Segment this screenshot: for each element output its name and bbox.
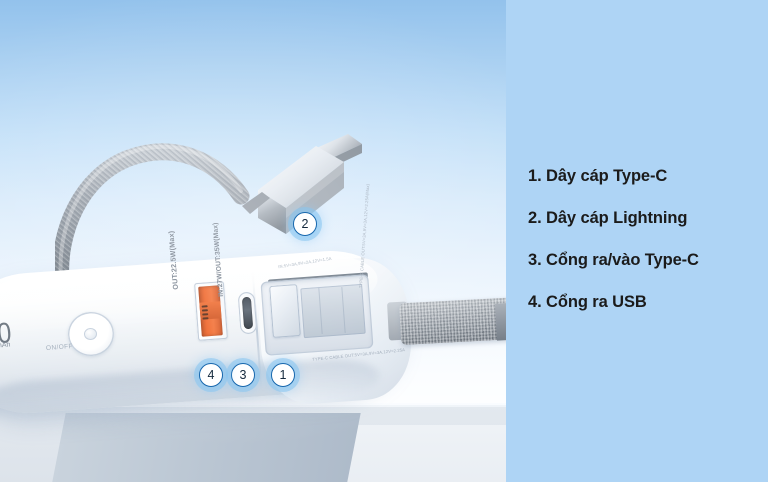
hand-strap-fold: [495, 302, 506, 340]
usb-a-contact: [202, 309, 208, 311]
usb-a-contact: [202, 313, 208, 315]
capacity-unit: mAh: [0, 341, 11, 349]
legend-item-3: 3. Cổng ra/vào Type-C: [528, 252, 768, 269]
pedestal-front-face: [44, 413, 360, 482]
callout-badge-4[interactable]: 4: [199, 363, 223, 387]
builtin-cable-connector[interactable]: [269, 284, 301, 338]
power-bank-body: 20000 mAh ON/OFF OUT:22.5W(Max) IN:27W/O…: [0, 252, 430, 417]
infographic-canvas: 20000 mAh ON/OFF OUT:22.5W(Max) IN:27W/O…: [0, 0, 768, 482]
usb-a-contact: [202, 317, 208, 319]
legend-list: 1. Dây cáp Type-C 2. Dây cáp Lightning 3…: [528, 168, 768, 336]
callout-badge-3[interactable]: 3: [231, 363, 255, 387]
product-photo-panel: 20000 mAh ON/OFF OUT:22.5W(Max) IN:27W/O…: [0, 0, 506, 482]
legend-item-4: 4. Cổng ra USB: [528, 294, 768, 311]
legend-item-2: 2. Dây cáp Lightning: [528, 210, 768, 227]
legend-item-1: 1. Dây cáp Type-C: [528, 168, 768, 185]
legend-panel: 1. Dây cáp Type-C 2. Dây cáp Lightning 3…: [506, 0, 768, 482]
hand-strap: [399, 297, 506, 345]
cable-bay-plate: [300, 284, 365, 338]
callout-badge-1[interactable]: 1: [271, 363, 295, 387]
callout-badge-2[interactable]: 2: [293, 212, 317, 236]
